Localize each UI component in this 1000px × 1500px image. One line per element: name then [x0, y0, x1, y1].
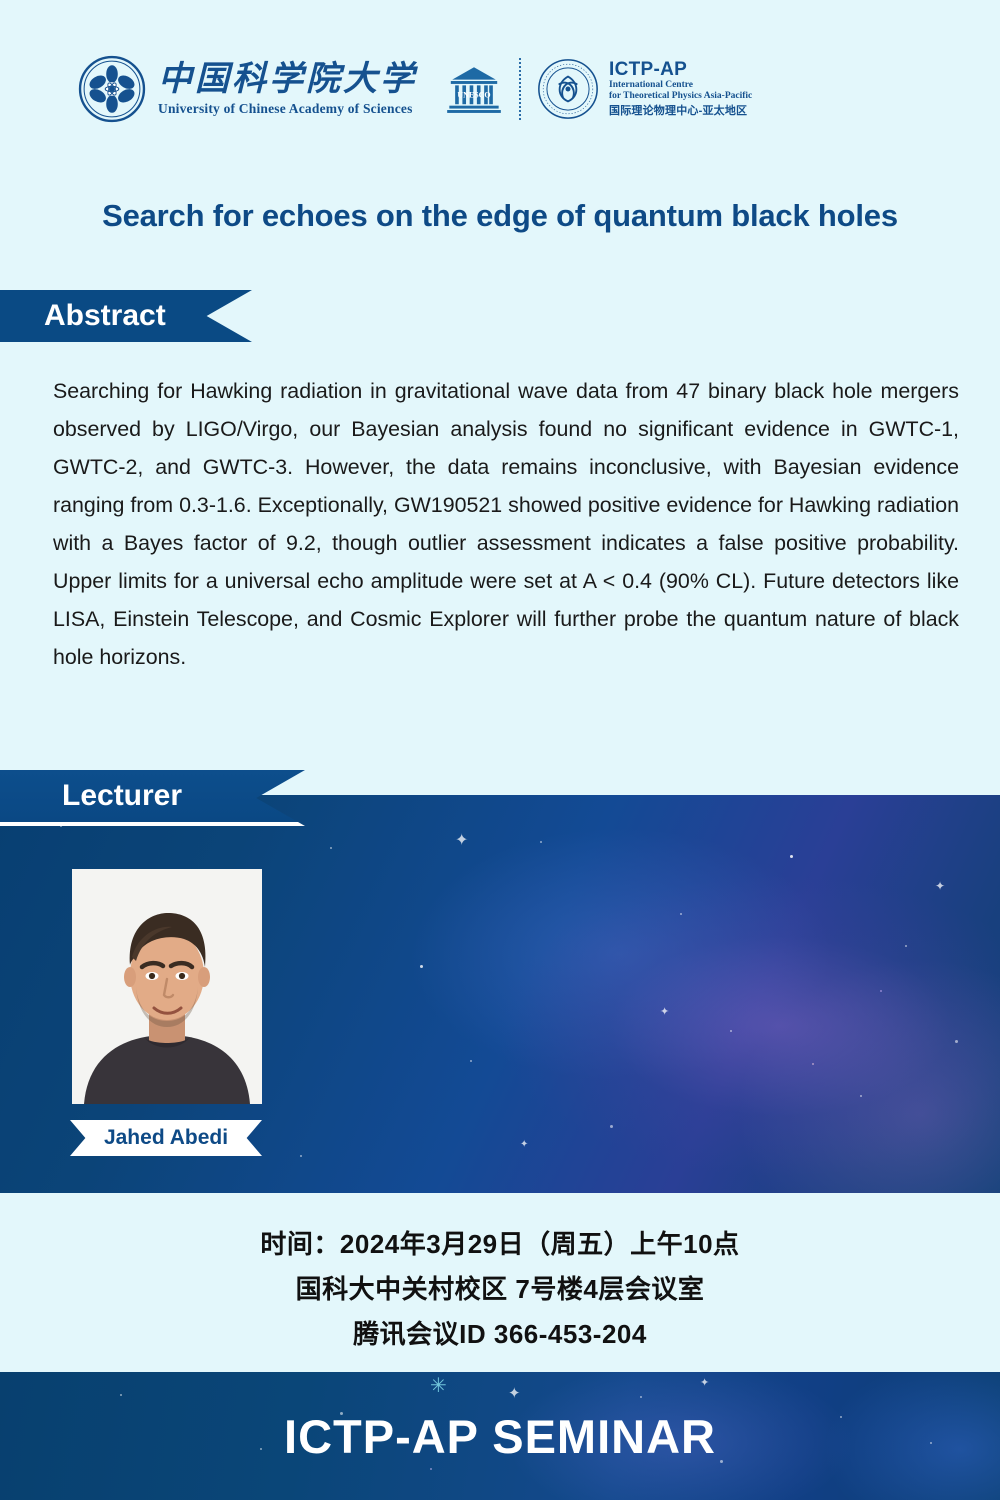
ucas-name-en: University of Chinese Academy of Science… [158, 101, 413, 117]
ictp-ap-logo: ICTP-AP International Centre for Theoret… [537, 58, 752, 120]
event-venue-line: 国科大中关村校区 7号楼4层会议室 [0, 1267, 1000, 1312]
ucas-logo: 中国科学院大学 University of Chinese Academy of… [78, 55, 417, 123]
page-title: Search for echoes on the edge of quantum… [0, 198, 1000, 234]
ictp-subtitle-2: for Theoretical Physics Asia-Pacific [609, 91, 752, 103]
abstract-body-text: Searching for Hawking radiation in gravi… [53, 372, 959, 676]
lecturer-photo-frame [72, 869, 262, 1104]
event-time-line: 时间：2024年3月29日（周五）上午10点 [0, 1222, 1000, 1267]
lecturer-heading-label: Lecturer [62, 779, 182, 813]
ictp-name: ICTP-AP [609, 60, 752, 80]
ucas-seal-icon [78, 55, 146, 123]
event-info-block: 时间：2024年3月29日（周五）上午10点 国科大中关村校区 7号楼4层会议室… [0, 1222, 1000, 1357]
ucas-wordmark: 中国科学院大学 University of Chinese Academy of… [158, 61, 417, 117]
lecturer-name-ribbon: Jahed Abedi [70, 1120, 262, 1156]
seminar-poster: 中国科学院大学 University of Chinese Academy of… [0, 0, 1000, 1500]
lecturer-name-label: Jahed Abedi [104, 1126, 228, 1150]
lecturer-portrait-image [72, 869, 262, 1104]
footer-title: ICTP-AP SEMINAR [284, 1409, 716, 1464]
ictp-wordmark: ICTP-AP International Centre for Theoret… [609, 60, 752, 118]
logo-divider [519, 58, 521, 120]
abstract-heading-label: Abstract [44, 299, 166, 333]
footer-banner: ✳ ✦ ✦ ICTP-AP SEMINAR [0, 1372, 1000, 1500]
ictp-subtitle-1: International Centre [609, 80, 752, 92]
unesco-logo: UNESCO [445, 58, 537, 120]
event-meeting-id-line: 腾讯会议ID 366-453-204 [0, 1312, 1000, 1357]
header-logo-strip: 中国科学院大学 University of Chinese Academy of… [78, 55, 752, 123]
unesco-temple-icon: UNESCO [445, 60, 503, 118]
ictp-subtitle-cn: 国际理论物理中心-亚太地区 [609, 104, 752, 118]
ucas-name-cn: 中国科学院大学 [158, 61, 417, 98]
ictp-seal-icon [537, 58, 599, 120]
abstract-section-banner: Abstract [0, 290, 252, 342]
unesco-wordmark: UNESCO [457, 91, 490, 100]
